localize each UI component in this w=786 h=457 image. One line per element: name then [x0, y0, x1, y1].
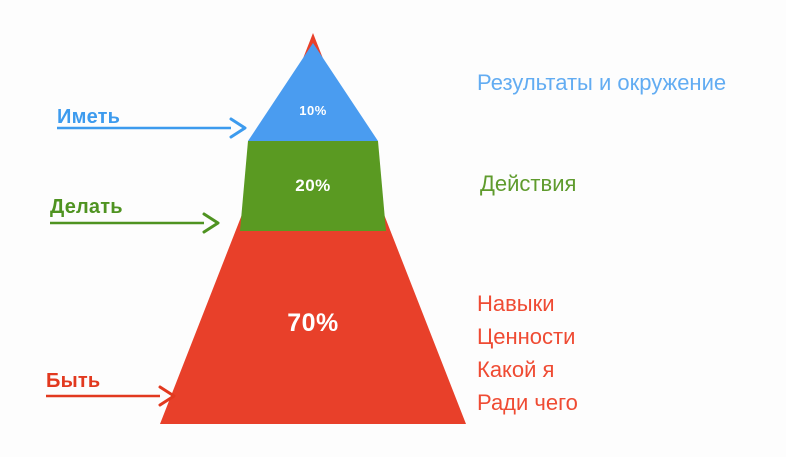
percent-label-be: 70% [276, 309, 350, 338]
pyramid-diagram-canvas: 10% 20% 70% Иметь Делать Быть Результаты… [0, 0, 786, 457]
arrow-icon-have [55, 116, 251, 140]
right-label-be-values: Ценности [477, 320, 578, 353]
right-label-do: Действия [480, 171, 576, 197]
right-label-be-skills: Навыки [477, 287, 578, 320]
percent-label-do: 20% [278, 176, 348, 196]
right-label-be-identity: Какой я [477, 353, 578, 386]
pyramid-tier-top-shape [248, 43, 378, 141]
arrow-icon-do [48, 211, 224, 235]
right-label-be-purpose: Ради чего [477, 386, 578, 419]
arrow-icon-be [44, 384, 180, 408]
right-label-have: Результаты и окружение [477, 70, 726, 96]
percent-label-have: 10% [283, 103, 343, 118]
right-label-be-group: Навыки Ценности Какой я Ради чего [477, 287, 578, 419]
